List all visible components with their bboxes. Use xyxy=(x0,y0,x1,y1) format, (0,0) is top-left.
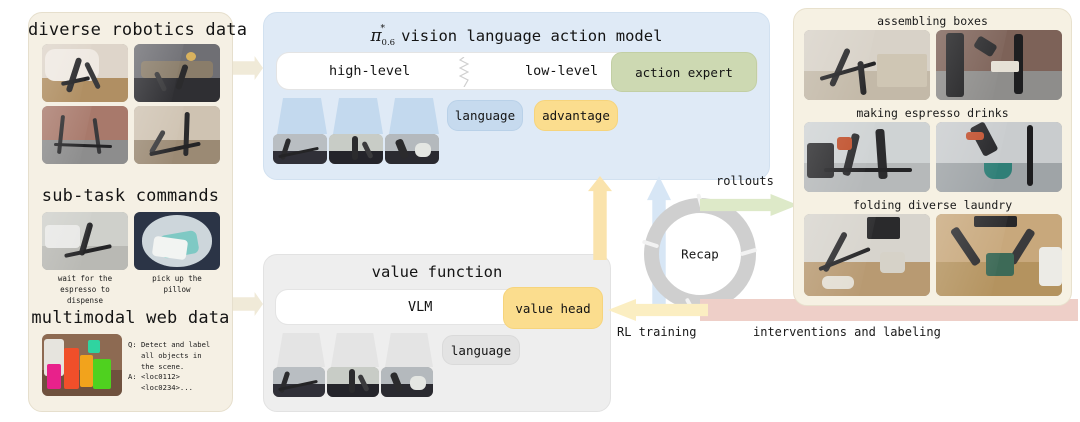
image-robot-at-table xyxy=(134,44,220,102)
rl-training-label: RL training xyxy=(617,325,696,339)
vla-panel-title: π*0.6 vision language action model xyxy=(263,26,770,46)
task-title-assembling-boxes: assembling boxes xyxy=(793,14,1072,28)
image-dual-arm-folding-shirt xyxy=(936,214,1062,296)
data-to-value-arrow xyxy=(233,292,263,316)
rollouts-label: rollouts xyxy=(716,174,774,188)
value-vision-encoder-2 xyxy=(331,333,379,367)
vla-language-pill[interactable]: language xyxy=(447,100,523,131)
value-thumb-wrist-cam-left xyxy=(273,367,325,397)
task-title-making-espresso-drinks: making espresso drinks xyxy=(793,106,1072,120)
value-head-pill[interactable]: value head xyxy=(503,287,603,329)
vla-model-strip: high-level low-level action expert xyxy=(276,52,758,90)
vla-title-text: vision language action model xyxy=(401,27,662,45)
image-arm-on-desk xyxy=(134,106,220,164)
high-level-label: high-level xyxy=(329,63,410,79)
value-vision-encoder-3 xyxy=(385,333,433,367)
vla-thumb-wrist-cam-center xyxy=(329,134,383,164)
vlm-label: VLM xyxy=(408,299,432,315)
vla-thumb-wrist-cam-left xyxy=(273,134,327,164)
vla-thumb-wrist-cam-right xyxy=(385,134,439,164)
section-title-sub-task-commands: sub-task commands xyxy=(28,186,233,206)
image-fisheye-pillow-scene xyxy=(134,212,220,270)
web-data-qa-text: Q: Detect and label all objects in the s… xyxy=(128,340,228,394)
data-to-vla-arrow xyxy=(233,56,263,80)
image-annotated-objects-photo xyxy=(42,334,122,396)
low-level-label: low-level xyxy=(525,63,598,79)
module-separator-zigzag xyxy=(459,57,469,87)
value-vision-encoder-1 xyxy=(277,333,325,367)
vla-advantage-pill[interactable]: advantage xyxy=(534,100,618,131)
caption-pick-up-pillow: pick up the pillow xyxy=(134,274,220,296)
image-arm-near-brick-wall xyxy=(936,30,1062,100)
image-arm-in-living-room xyxy=(804,214,930,296)
diagram-canvas: diverse robotics data sub-task commands xyxy=(0,0,1080,422)
image-espresso-machine-scene xyxy=(42,212,128,270)
image-arm-folding-box xyxy=(804,30,930,100)
pi-symbol: π*0.6 xyxy=(371,26,388,46)
vision-encoder-2 xyxy=(333,98,383,134)
recap-ring: Recap xyxy=(644,198,756,310)
section-title-diverse-robotics-data: diverse robotics data xyxy=(28,20,233,40)
value-to-vla-arrow xyxy=(588,176,612,260)
value-thumb-wrist-cam-right xyxy=(381,367,433,397)
recap-label: Recap xyxy=(644,247,756,262)
vision-encoder-1 xyxy=(277,98,327,134)
task-title-folding-diverse-laundry: folding diverse laundry xyxy=(793,198,1072,212)
value-function-title: value function xyxy=(263,263,611,281)
caption-wait-for-espresso: wait for the espresso to dispense xyxy=(42,274,128,307)
value-language-pill[interactable]: language xyxy=(442,335,520,365)
interventions-label: interventions and labeling xyxy=(753,325,941,339)
value-model-strip: VLM value head xyxy=(275,289,599,325)
value-thumb-wrist-cam-center xyxy=(327,367,379,397)
image-dual-arm-brick-wall xyxy=(42,106,128,164)
section-title-multimodal-web-data: multimodal web data xyxy=(28,308,233,328)
action-expert-pill[interactable]: action expert xyxy=(611,52,757,92)
image-espresso-bar-arm xyxy=(804,122,930,192)
vision-encoder-3 xyxy=(389,98,439,134)
image-robot-on-sofa xyxy=(42,44,128,102)
image-pouring-milk-cup xyxy=(936,122,1062,192)
